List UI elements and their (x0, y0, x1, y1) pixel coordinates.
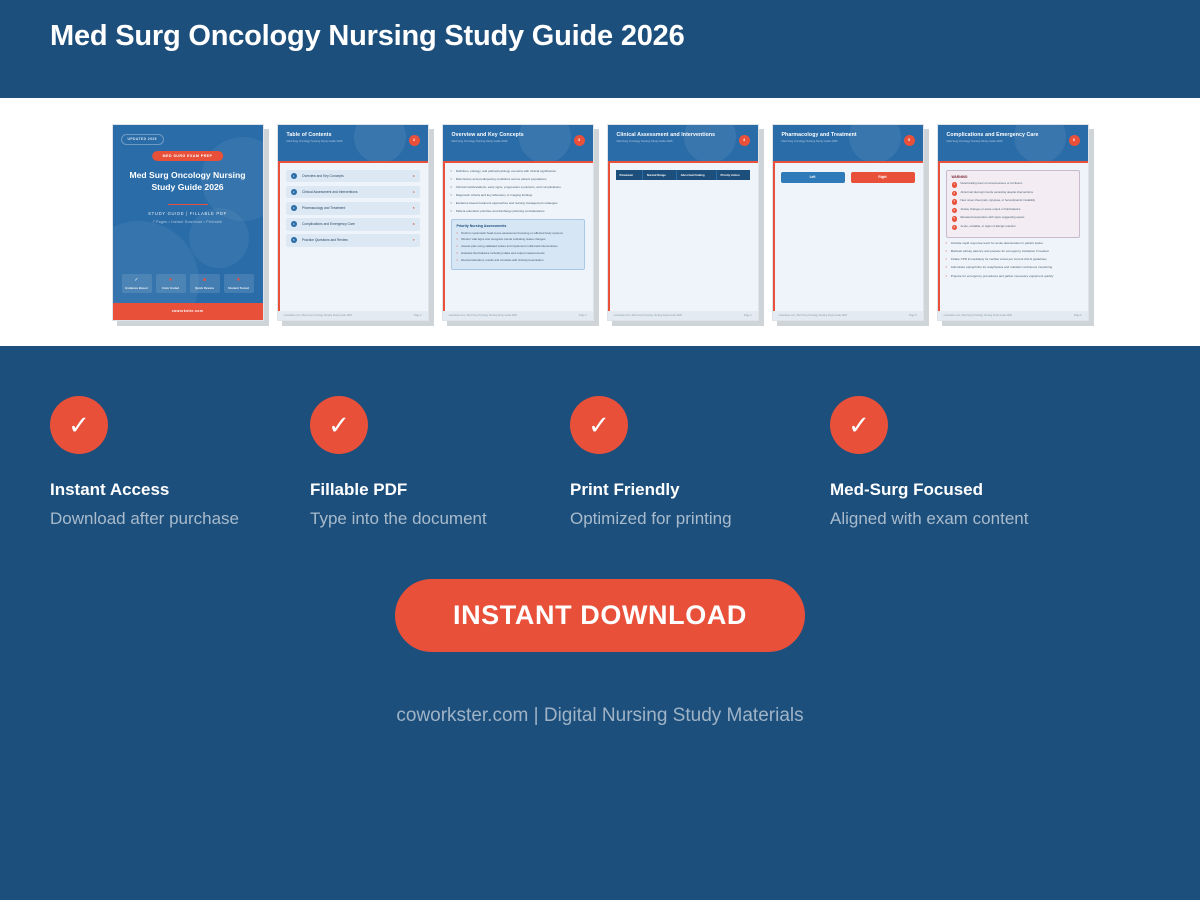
warning-text: Acute, unstable, or signs of allergic re… (961, 225, 1016, 228)
highlight-text: Monitor vital signs and recognize trends… (461, 238, 545, 241)
bullet-icon: • (451, 194, 452, 198)
toc-page: 3 (413, 174, 415, 178)
cover-feature-label: Evidence Based (123, 286, 151, 290)
toc-page: 7 (413, 238, 415, 242)
interior-page: Overview and Key Concepts Med Surg Oncol… (443, 125, 593, 320)
priority-assessments-box: Priority Nursing Assessments • Perform s… (451, 219, 585, 270)
interior-page: Complications and Emergency Care Med Sur… (938, 125, 1088, 320)
page-side-rule (443, 163, 445, 311)
highlight-item: • Review laboratory results and correlat… (457, 259, 579, 263)
bullet-item: • Administer epinephrine for anaphylaxis… (946, 266, 1080, 270)
toc-page: 5 (413, 206, 415, 210)
square-icon: ■ (191, 278, 219, 283)
feature-title: Med-Surg Focused (830, 480, 1090, 500)
action-list: • Activate rapid response team for acute… (946, 242, 1080, 279)
warning-item: 2 Abnormal vital sign trends persisting … (952, 191, 1074, 197)
cover-updated-badge: UPDATED 2026 (121, 134, 164, 145)
preview-gallery: UPDATED 2026 MED SURG EXAM PREP Med Surg… (0, 98, 1200, 346)
bullet-icon: • (451, 170, 452, 174)
cover-footer: coworkster.com (113, 303, 263, 320)
bullet-icon: • (457, 245, 458, 249)
warning-text: Elevated temperature with signs suggesti… (961, 216, 1025, 219)
page-heading: Clinical Assessment and Interventions (617, 132, 758, 138)
page-side-rule (938, 163, 940, 311)
instant-download-button[interactable]: INSTANT DOWNLOAD (395, 579, 805, 652)
bullet-icon: • (946, 275, 947, 279)
bullet-item: • Prepare for emergency procedures and g… (946, 275, 1080, 279)
thumbnail-frame: Table of Contents Med Surg Oncology Nurs… (277, 124, 429, 321)
thumbnail-frame: Complications and Emergency Care Med Sur… (937, 124, 1089, 321)
page-title: Med Surg Oncology Nursing Study Guide 20… (50, 20, 685, 53)
warning-title: WARNING (952, 175, 1074, 179)
page-body: 1 Overview and Key Concepts 3 2 Clinical… (278, 163, 428, 311)
warning-item: 3 New onset chest pain, dyspnea, or hemo… (952, 199, 1074, 205)
bullet-icon: • (451, 186, 452, 190)
page-footer-right: Page 6 (1074, 314, 1082, 317)
table-header-row: Parameter Normal Range Abnormal Finding … (616, 170, 750, 180)
assessment-table: Parameter Normal Range Abnormal Finding … (616, 170, 750, 180)
warning-number: 6 (952, 225, 958, 231)
table-header-cell: Abnormal Finding (676, 170, 716, 180)
page-header-band: Table of Contents Med Surg Oncology Nurs… (278, 125, 428, 161)
feature-title: Print Friendly (570, 480, 830, 500)
page-heading: Overview and Key Concepts (452, 132, 593, 138)
bullet-icon: • (457, 238, 458, 242)
page-footer-right: Page 5 (909, 314, 917, 317)
bullet-item: • Risk factors and predisposing conditio… (451, 178, 585, 182)
bullet-icon: • (946, 258, 947, 262)
bullet-item: • Initiate CPR immediately for cardiac a… (946, 258, 1080, 262)
toc-item: 5 Practice Questions and Review 7 (286, 234, 420, 247)
page-footer-right: Page 4 (744, 314, 752, 317)
feature-description: Type into the document (310, 509, 570, 529)
cover-feature-item: ★ Color Coded (156, 274, 186, 293)
bullet-text: Initiate CPR immediately for cardiac arr… (951, 258, 1047, 262)
page-footer-right: Page 3 (579, 314, 587, 317)
toc-item: 2 Clinical Assessment and Interventions … (286, 186, 420, 199)
highlight-text: Assess pain using validated scales and i… (461, 245, 557, 248)
toc-number: 4 (291, 221, 298, 228)
cover-feature-item: ★ Student Tested (224, 274, 254, 293)
page-body: WARNING 1 Deteriorating level of conscio… (938, 163, 1088, 311)
cover-feature-item: ✓ Evidence Based (122, 274, 152, 293)
warning-number: 3 (952, 199, 958, 205)
toc-page: 4 (413, 190, 415, 194)
page-heading: Complications and Emergency Care (947, 132, 1088, 138)
bullet-item: • Patient education priorities and disch… (451, 210, 585, 214)
feature-description: Download after purchase (50, 509, 310, 529)
warning-box: WARNING 1 Deteriorating level of conscio… (946, 170, 1080, 239)
toc-number: 2 (291, 189, 298, 196)
feature-med-surg-focused: ✓ Med-Surg Focused Aligned with exam con… (830, 396, 1090, 529)
warning-number: 2 (952, 191, 958, 197)
page-side-rule (608, 163, 610, 311)
page-side-rule (773, 163, 775, 311)
cta-section: INSTANT DOWNLOAD (0, 579, 1200, 652)
page-body: • Definition, etiology, and pathophysiol… (443, 163, 593, 311)
bullet-item: • Clinical manifestations: early signs, … (451, 186, 585, 190)
page-footer-left: coworkster.com | Med Surg Oncology Nursi… (284, 314, 352, 317)
comparison-bar-left: Left (781, 172, 845, 183)
warning-number: 1 (952, 182, 958, 188)
table-header-cell: Priority Action (716, 170, 750, 180)
warning-text: New onset chest pain, dyspnea, or hemody… (961, 199, 1036, 202)
landing-page: Med Surg Oncology Nursing Study Guide 20… (0, 0, 1200, 900)
thumbnail-page-6[interactable]: Complications and Emergency Care Med Sur… (937, 124, 1089, 321)
bullet-item: • Definition, etiology, and pathophysiol… (451, 170, 585, 174)
page-footer: coworkster.com | Med Surg Oncology Nursi… (278, 311, 428, 320)
page-subheading: Med Surg Oncology Nursing Study Guide 20… (452, 140, 593, 143)
bullet-text: Prepare for emergency procedures and gat… (951, 275, 1054, 279)
cover-title: Med Surg Oncology Nursing Study Guide 20… (123, 169, 253, 193)
feature-print-friendly: ✓ Print Friendly Optimized for printing (570, 396, 830, 529)
toc-label: Practice Questions and Review (302, 238, 408, 242)
page-heading: Pharmacology and Treatment (782, 132, 923, 138)
cover-feature-item: ■ Quick Review (190, 274, 220, 293)
page-number-badge: 6 (1069, 135, 1080, 146)
warning-text: Airway changes or acute output or fluid … (961, 208, 1021, 211)
toc-item: 3 Pharmacology and Treatment 5 (286, 202, 420, 215)
check-icon: ✓ (310, 396, 368, 454)
star-icon: ★ (225, 278, 253, 283)
toc-label: Overview and Key Concepts (302, 174, 408, 178)
bullet-item: • Maintain airway patency and prepare fo… (946, 250, 1080, 254)
warning-item: 4 Airway changes or acute output or flui… (952, 208, 1074, 214)
bullet-icon: • (946, 250, 947, 254)
page-footer: coworkster.com | Med Surg Oncology Nursi… (608, 311, 758, 320)
warning-text: Abnormal vital sign trends persisting de… (961, 191, 1034, 194)
feature-fillable-pdf: ✓ Fillable PDF Type into the document (310, 396, 570, 529)
page-footer-right: Page 2 (414, 314, 422, 317)
check-icon: ✓ (830, 396, 888, 454)
bullet-icon: • (457, 259, 458, 263)
page-subheading: Med Surg Oncology Nursing Study Guide 20… (782, 140, 923, 143)
thumbnail-page-5[interactable]: Pharmacology and Treatment Med Surg Onco… (772, 124, 924, 321)
cover-feature-label: Color Coded (157, 286, 185, 290)
page-body: Parameter Normal Range Abnormal Finding … (608, 163, 758, 311)
comparison-bars: Left Right (781, 172, 915, 183)
page-footer-left: coworkster.com | Med Surg Oncology Nursi… (779, 314, 847, 317)
toc-label: Pharmacology and Treatment (302, 206, 408, 210)
highlight-title: Priority Nursing Assessments (457, 224, 579, 228)
bullet-text: Clinical manifestations: early signs, pr… (456, 186, 561, 190)
warning-number: 5 (952, 216, 958, 222)
thumbnail-page-4[interactable]: Clinical Assessment and Interventions Me… (607, 124, 759, 321)
bullet-item: • Evidence-based treatment approaches an… (451, 202, 585, 206)
bullet-icon: • (451, 202, 452, 206)
page-number-badge: 2 (409, 135, 420, 146)
toc-number: 5 (291, 237, 298, 244)
page-header-band: Overview and Key Concepts Med Surg Oncol… (443, 125, 593, 161)
bullet-item: • Activate rapid response team for acute… (946, 242, 1080, 246)
toc-item: 1 Overview and Key Concepts 3 (286, 170, 420, 183)
highlight-item: • Evaluate fluid balance including intak… (457, 252, 579, 256)
bullet-text: Patient education priorities and dischar… (456, 210, 545, 214)
highlight-item: • Assess pain using validated scales and… (457, 245, 579, 249)
page-header-band: Clinical Assessment and Interventions Me… (608, 125, 758, 161)
warning-item: 6 Acute, unstable, or signs of allergic … (952, 225, 1074, 231)
thumbnail-frame: Clinical Assessment and Interventions Me… (607, 124, 759, 321)
bullet-icon: • (946, 242, 947, 246)
bullet-icon: • (451, 210, 452, 214)
toc-number: 1 (291, 173, 298, 180)
highlight-item: • Perform systematic head-to-toe assessm… (457, 232, 579, 236)
bullet-text: Activate rapid response team for acute d… (951, 242, 1043, 246)
page-heading: Table of Contents (287, 132, 428, 138)
check-icon: ✓ (50, 396, 108, 454)
bullet-text: Administer epinephrine for anaphylaxis a… (951, 266, 1052, 270)
bullet-icon: • (457, 232, 458, 236)
highlight-text: Review laboratory results and correlate … (461, 259, 543, 262)
page-footer-left: coworkster.com | Med Surg Oncology Nursi… (614, 314, 682, 317)
table-header-cell: Parameter (616, 170, 643, 180)
page-subheading: Med Surg Oncology Nursing Study Guide 20… (287, 140, 428, 143)
cover-subtitle: STUDY GUIDE | FILLABLE PDF (113, 211, 263, 216)
thumbnail-page-3[interactable]: Overview and Key Concepts Med Surg Oncol… (442, 124, 594, 321)
bullet-text: Definition, etiology, and pathophysiolog… (456, 170, 556, 174)
page-number-badge: 3 (574, 135, 585, 146)
bullet-text: Risk factors and predisposing conditions… (456, 178, 547, 182)
star-icon: ★ (157, 278, 185, 283)
bullet-icon: • (451, 178, 452, 182)
decorative-circle (189, 208, 249, 268)
toc-number: 3 (291, 205, 298, 212)
page-header: Med Surg Oncology Nursing Study Guide 20… (0, 0, 1200, 98)
features-row: ✓ Instant Access Download after purchase… (0, 346, 1200, 529)
feature-description: Optimized for printing (570, 509, 830, 529)
highlight-text: Evaluate fluid balance including intake … (461, 252, 544, 255)
check-icon: ✓ (570, 396, 628, 454)
page-footer-left: coworkster.com | Med Surg Oncology Nursi… (944, 314, 1012, 317)
toc-page: 6 (413, 222, 415, 226)
feature-description: Aligned with exam content (830, 509, 1090, 529)
page-header-band: Complications and Emergency Care Med Sur… (938, 125, 1088, 161)
page-body: Left Right (773, 163, 923, 311)
toc-item: 4 Complications and Emergency Care 6 (286, 218, 420, 231)
highlight-text: Perform systematic head-to-toe assessmen… (461, 232, 563, 235)
page-header-band: Pharmacology and Treatment Med Surg Onco… (773, 125, 923, 161)
page-footer: coworkster.com | Med Surg Oncology Nursi… (938, 311, 1088, 320)
page-subheading: Med Surg Oncology Nursing Study Guide 20… (947, 140, 1088, 143)
bullet-text: Evidence-based treatment approaches and … (456, 202, 558, 206)
cover-meta: 7 Pages • Instant Download • Printable (113, 220, 263, 224)
thumbnail-page-2[interactable]: Table of Contents Med Surg Oncology Nurs… (277, 124, 429, 321)
feature-title: Instant Access (50, 480, 310, 500)
interior-page: Table of Contents Med Surg Oncology Nurs… (278, 125, 428, 320)
bullet-item: • Diagnostic criteria and key laboratory… (451, 194, 585, 198)
page-subheading: Med Surg Oncology Nursing Study Guide 20… (617, 140, 758, 143)
cover-feature-list: ✓ Evidence Based ★ Color Coded ■ Quick R… (122, 274, 254, 293)
toc-label: Complications and Emergency Care (302, 222, 408, 226)
feature-title: Fillable PDF (310, 480, 570, 500)
page-number-badge: 4 (739, 135, 750, 146)
comparison-bar-right: Right (851, 172, 915, 183)
interior-page: Pharmacology and Treatment Med Surg Onco… (773, 125, 923, 320)
highlight-item: • Monitor vital signs and recognize tren… (457, 238, 579, 242)
bullet-icon: • (457, 252, 458, 256)
site-footer: coworkster.com | Digital Nursing Study M… (0, 705, 1200, 727)
cover-feature-label: Student Tested (225, 286, 253, 290)
bullet-icon: • (946, 266, 947, 270)
check-icon: ✓ (123, 278, 151, 283)
thumbnail-frame: Pharmacology and Treatment Med Surg Onco… (772, 124, 924, 321)
interior-page: Clinical Assessment and Interventions Me… (608, 125, 758, 320)
cover-exam-badge: MED SURG EXAM PREP (152, 151, 224, 161)
cover-divider (168, 204, 208, 206)
page-footer: coworkster.com | Med Surg Oncology Nursi… (773, 311, 923, 320)
bullet-text: Diagnostic criteria and key laboratory o… (456, 194, 533, 198)
warning-number: 4 (952, 208, 958, 214)
page-side-rule (278, 163, 280, 311)
warning-item: 5 Elevated temperature with signs sugges… (952, 216, 1074, 222)
toc-label: Clinical Assessment and Interventions (302, 190, 408, 194)
page-footer: coworkster.com | Med Surg Oncology Nursi… (443, 311, 593, 320)
thumbnail-cover[interactable]: UPDATED 2026 MED SURG EXAM PREP Med Surg… (112, 124, 264, 321)
page-number-badge: 5 (904, 135, 915, 146)
feature-instant-access: ✓ Instant Access Download after purchase (50, 396, 310, 529)
page-footer-left: coworkster.com | Med Surg Oncology Nursi… (449, 314, 517, 317)
bullet-text: Maintain airway patency and prepare for … (951, 250, 1049, 254)
warning-item: 1 Deteriorating level of consciousness o… (952, 182, 1074, 188)
thumbnail-frame: UPDATED 2026 MED SURG EXAM PREP Med Surg… (112, 124, 264, 321)
cover-page: UPDATED 2026 MED SURG EXAM PREP Med Surg… (113, 125, 263, 320)
warning-text: Deteriorating level of consciousness or … (961, 182, 1023, 185)
table-header-cell: Normal Range (642, 170, 676, 180)
cover-feature-label: Quick Review (191, 286, 219, 290)
thumbnail-frame: Overview and Key Concepts Med Surg Oncol… (442, 124, 594, 321)
